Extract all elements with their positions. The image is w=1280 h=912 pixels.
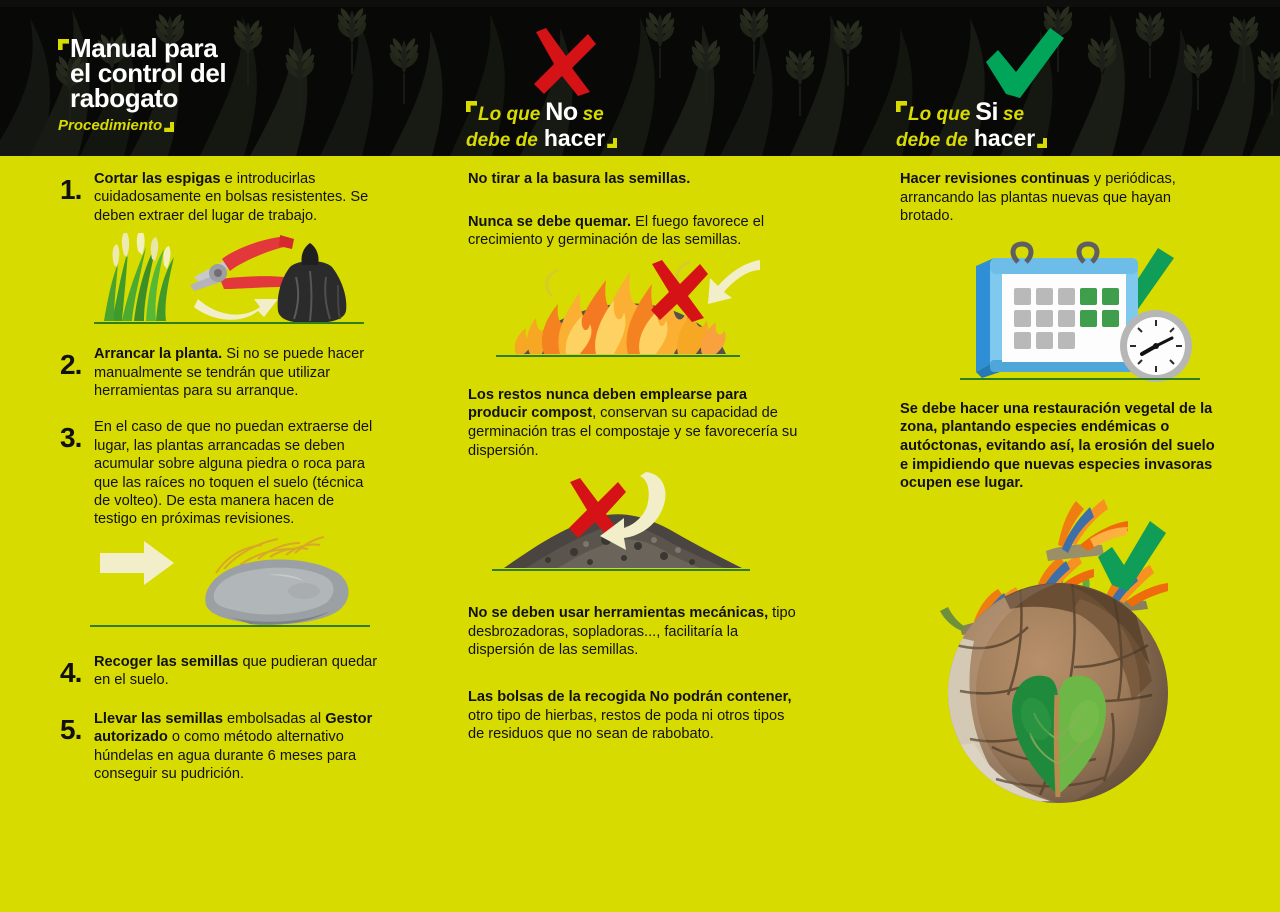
corner-bracket-icon: [607, 138, 617, 148]
header-banner: Manual para el control del rabogato Proc…: [0, 0, 1280, 156]
page-subtitle-row: Procedimiento: [58, 117, 226, 134]
step-5: 5. Llevar las semillas embolsadas al Ges…: [60, 710, 380, 784]
banner-no-keyword: No: [545, 98, 577, 127]
dont-block-2-strong: Nunca se debe quemar.: [468, 214, 631, 230]
dont-block-4: No se deben usar herramientas mecánicas,…: [468, 604, 798, 660]
step-5-number: 5.: [60, 710, 94, 744]
compost-pile-illustration: [478, 470, 768, 580]
banner-si-line2-big: hacer: [974, 125, 1035, 152]
rock-roots-illustration: [90, 529, 370, 637]
step-4-strong: Recoger las semillas: [94, 654, 238, 670]
step-5-strong: Llevar las semillas: [94, 711, 223, 727]
step-1-number: 1.: [60, 170, 94, 204]
corner-bracket-icon: [164, 122, 174, 132]
step-2-text: Arrancar la planta. Si no se puede hacer…: [94, 345, 380, 400]
dont-block-5-rest: otro tipo de hierbas, restos de poda ni …: [468, 708, 784, 743]
step-1: 1. Cortar las espigas e introducirlas cu…: [60, 170, 380, 225]
banner-no-mark: [466, 28, 766, 96]
infographic-page: Manual para el control del rabogato Proc…: [0, 0, 1280, 912]
dont-block-2: Nunca se debe quemar. El fuego favorece …: [468, 213, 798, 250]
step-3-text: En el caso de que no puedan extraerse de…: [94, 418, 380, 528]
page-subtitle: Procedimiento: [58, 117, 162, 134]
calendar-clock-illustration: [960, 236, 1210, 386]
step-2: 2. Arrancar la planta. Si no se puede ha…: [60, 345, 380, 400]
banner-no: Lo que No se debe de hacer: [466, 28, 766, 152]
banner-si: Lo que Si se debe de hacer: [896, 28, 1196, 152]
step-1-strong: Cortar las espigas: [94, 171, 221, 187]
do-block-1: Hacer revisiones continuas y periódicas,…: [900, 170, 1222, 226]
step-4-text: Recoger las semillas que pudieran quedar…: [94, 653, 380, 690]
corner-bracket-icon: [896, 101, 907, 112]
banner-no-line2-big: hacer: [544, 125, 605, 152]
column-do: Hacer revisiones continuas y periódicas,…: [900, 170, 1222, 815]
do-block-2: Se debe hacer una restauración vegetal d…: [900, 400, 1222, 493]
step-4-number: 4.: [60, 653, 94, 687]
step-5-text: Llevar las semillas embolsadas al Gestor…: [94, 710, 380, 784]
earth-sphere-plants-illustration: [900, 495, 1210, 815]
step-3-number: 3.: [60, 418, 94, 452]
banner-si-keyword: Si: [975, 98, 998, 127]
banner-no-line2-italic: debe de: [466, 130, 538, 152]
banner-si-mark: [896, 28, 1196, 96]
burning-pile-illustration: [478, 256, 768, 366]
dont-block-4-strong: No se deben usar herramientas mecánicas,: [468, 605, 768, 621]
column-dont: No tirar a la basura las semillas. Nunca…: [468, 170, 798, 744]
corner-bracket-icon: [58, 39, 69, 50]
corner-bracket-icon: [466, 101, 477, 112]
dont-block-5-strong: Las bolsas de la recogida No podrán cont…: [468, 689, 792, 705]
banner-si-line2-italic: debe de: [896, 130, 968, 152]
dont-block-5: Las bolsas de la recogida No podrán cont…: [468, 688, 798, 744]
green-check-icon: [982, 28, 1068, 100]
banner-no-text: Lo que No se debe de hacer: [466, 98, 766, 152]
step-2-strong: Arrancar la planta.: [94, 346, 222, 362]
banner-si-text: Lo que Si se debe de hacer: [896, 98, 1196, 152]
step-5-rest: embolsadas al: [223, 711, 325, 727]
step-1-text: Cortar las espigas e introducirlas cuida…: [94, 170, 380, 225]
page-title-line-3: rabogato: [70, 86, 226, 111]
banner-no-line1-italic: Lo que: [478, 104, 540, 126]
grass-shears-bag-illustration: [94, 233, 374, 325]
dont-block-1: No tirar a la basura las semillas.: [468, 170, 798, 189]
banner-si-line1-italic: Lo que: [908, 104, 970, 126]
banner-si-line1-tail: se: [1003, 104, 1024, 126]
red-x-icon: [526, 28, 598, 96]
do-block-1-strong: Hacer revisiones continuas: [900, 171, 1090, 187]
column-procedure: 1. Cortar las espigas e introducirlas cu…: [60, 170, 380, 783]
page-title-block: Manual para el control del rabogato Proc…: [58, 36, 226, 134]
step-2-number: 2.: [60, 345, 94, 379]
corner-bracket-icon: [1037, 138, 1047, 148]
step-4: 4. Recoger las semillas que pudieran que…: [60, 653, 380, 690]
dont-block-3: Los restos nunca deben emplearse para pr…: [468, 386, 798, 460]
step-3: 3. En el caso de que no puedan extraerse…: [60, 418, 380, 528]
banner-no-line1-tail: se: [583, 104, 604, 126]
